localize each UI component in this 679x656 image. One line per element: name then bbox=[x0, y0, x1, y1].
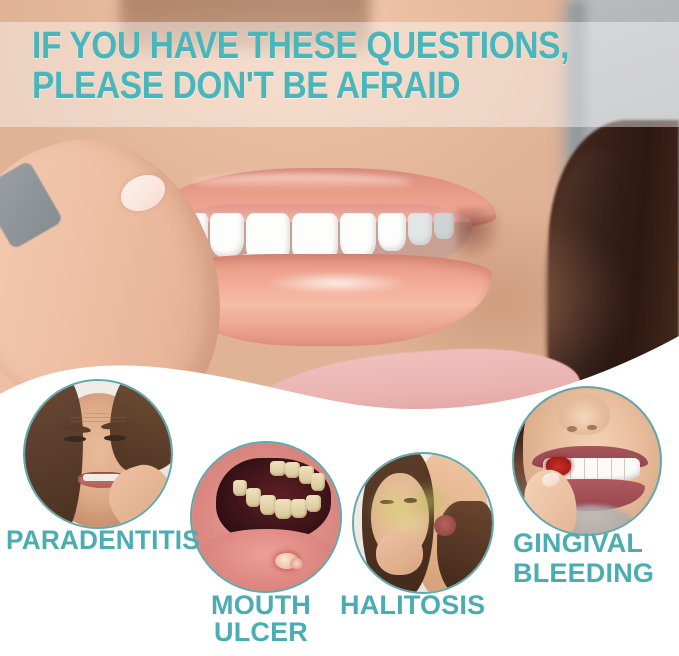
label-halitosis: HALITOSIS bbox=[340, 592, 485, 619]
lower-lip-gloss bbox=[262, 272, 412, 294]
gingival-bleeding-photo bbox=[514, 388, 660, 534]
mouth-corner-right bbox=[456, 208, 506, 258]
label-mouth-ulcer: MOUTH ULCER bbox=[197, 592, 325, 646]
label-paradentitis: PARADENTITIS bbox=[6, 527, 200, 554]
bad-breath-cloud bbox=[365, 473, 464, 545]
poster-canvas: IF YOU HAVE THESE QUESTIONS, PLEASE DON'… bbox=[0, 0, 679, 656]
mouth-ulcer-photo bbox=[192, 443, 340, 591]
label-gingival-bleeding: GINGIVAL BLEEDING bbox=[513, 528, 654, 588]
page-title: IF YOU HAVE THESE QUESTIONS, PLEASE DON'… bbox=[32, 26, 586, 106]
condition-circle-gingival-bleeding[interactable] bbox=[512, 386, 662, 536]
upper-lip-gloss bbox=[192, 174, 412, 190]
condition-circle-mouth-ulcer[interactable] bbox=[190, 441, 342, 593]
halitosis-photo bbox=[354, 454, 492, 592]
condition-circle-paradentitis[interactable] bbox=[23, 379, 173, 529]
paradentitis-photo bbox=[25, 381, 171, 527]
condition-circle-halitosis[interactable] bbox=[352, 452, 494, 594]
